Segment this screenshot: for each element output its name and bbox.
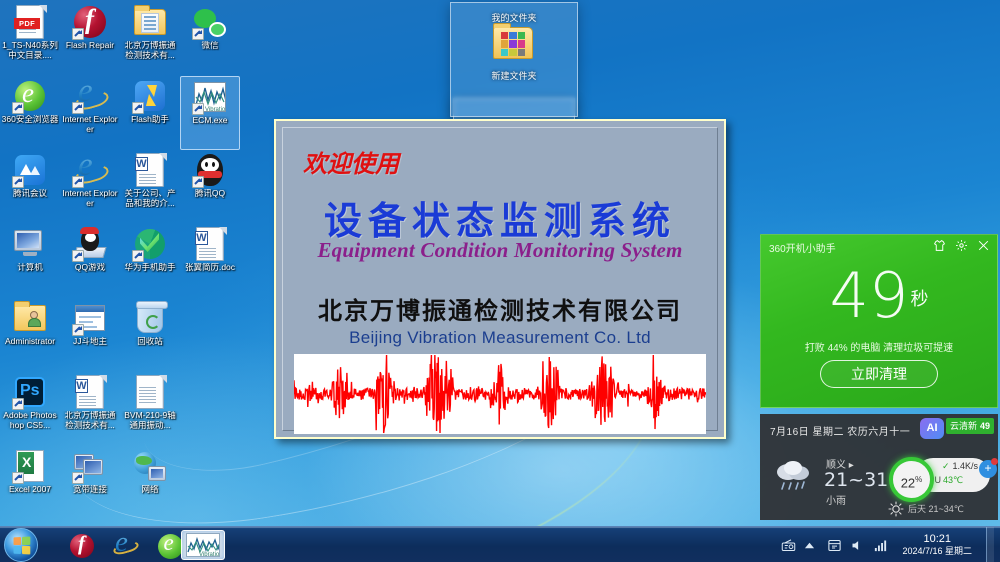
shortcut-arrow-icon (12, 102, 24, 114)
taskbar-internet-explorer[interactable]: e (106, 530, 146, 560)
desktop-icon-label: 北京万博振通检测技术有... (61, 411, 119, 430)
desktop-icon-label: 回收站 (121, 337, 179, 347)
desktop-icon-flash助手[interactable]: Flash助手 (120, 76, 180, 150)
ie-icon (73, 79, 107, 113)
shortcut-arrow-icon (72, 102, 84, 114)
desktop-icon-empty-slot (180, 372, 240, 446)
desktop-icon-label: 张翼简历.doc (181, 263, 239, 273)
memory-usage-value: 22 (901, 475, 915, 490)
svg-text:Vibration: Vibration (199, 552, 220, 557)
weather-condition: 小雨 (826, 492, 846, 507)
windows-logo-icon (14, 537, 31, 555)
desktop-icon-腾讯qq[interactable]: 腾讯QQ (180, 150, 240, 224)
desktop-icon-administrator[interactable]: Administrator (0, 298, 60, 372)
jj-icon (73, 301, 107, 335)
doc-icon (133, 375, 167, 409)
vibration-waveform (294, 354, 706, 434)
clean-now-button[interactable]: 立即清理 (820, 360, 938, 388)
memory-usage-unit: % (915, 475, 922, 484)
browser360-icon (13, 79, 47, 113)
taskbar-ecm[interactable]: Vibration (181, 530, 225, 560)
ai-button[interactable]: AI (920, 418, 944, 439)
volume-icon[interactable] (850, 538, 865, 553)
desktop-icon-关于公司-产品和我的介-[interactable]: W关于公司、产品和我的介... (120, 150, 180, 224)
desktop-icon-label: QQ游戏 (61, 263, 119, 273)
background-window-title: 我的文件夹 (451, 11, 577, 24)
shortcut-arrow-icon (72, 324, 84, 336)
ecm-icon: Vibration (193, 80, 227, 114)
desktop-icon-label: Excel 2007 (1, 485, 59, 495)
sun-icon (888, 501, 904, 517)
vibration-waveform-panel (294, 354, 706, 434)
desktop-icon-回收站[interactable]: 回收站 (120, 298, 180, 372)
shortcut-arrow-icon (192, 103, 204, 115)
folder-icon (133, 5, 167, 39)
show-desktop-button[interactable] (986, 527, 994, 562)
network-speed-value: 1.4K/s (953, 461, 979, 471)
background-window-my-folder[interactable]: 我的文件夹 新建文件夹 (450, 2, 578, 117)
huawei-icon (133, 227, 167, 261)
desktop-icon-label: 1_TS-N40系列中文目录.... (1, 41, 59, 60)
widget-360-subtitle: 打败 44% 的电脑 清理垃圾可提速 (761, 339, 997, 354)
desktop-icon-腾讯会议[interactable]: 腾讯会议 (0, 150, 60, 224)
desktop-icon-label: 宽带连接 (61, 485, 119, 495)
desktop-icon-label: Internet Explorer (61, 189, 119, 208)
welcome-text: 欢迎使用 (303, 144, 399, 179)
clock-date: 2024/7/16 星期二 (902, 545, 972, 557)
shortcut-arrow-icon (192, 176, 204, 188)
splash-title-english: Equipment Condition Monitoring System (283, 238, 717, 263)
network-icon (133, 449, 167, 483)
computer-icon (13, 227, 47, 261)
desktop-icon-网络[interactable]: 网络 (120, 446, 180, 520)
desktop-icon-label: Internet Explorer (61, 115, 119, 134)
flashhelp-icon (133, 79, 167, 113)
desktop-icon-宽带连接[interactable]: 宽带连接 (60, 446, 120, 520)
system-tray[interactable]: 10:21 2024/7/16 星期二 (781, 527, 1000, 562)
weather-future-forecast: 后天 21~34℃ (908, 502, 964, 515)
check-icon: ✓ (942, 461, 950, 471)
folder-item-label: 新建文件夹 (451, 69, 577, 82)
desktop-icon-北京万博振通检测技术有-[interactable]: 北京万博振通检测技术有... (120, 2, 180, 76)
svg-text:Vibration: Vibration (205, 107, 226, 112)
desktop-icon-label: JJ斗地主 (61, 337, 119, 347)
desktop-icon-计算机[interactable]: 计算机 (0, 224, 60, 298)
action-center-icon[interactable] (827, 538, 842, 553)
wechat-icon (193, 5, 227, 39)
shortcut-arrow-icon (12, 176, 24, 188)
weather-date: 7月16日 星期二 农历六月十一 (770, 423, 910, 438)
weather-temp-range: 21~31 (824, 469, 888, 491)
desktop-icon-label: 华为手机助手 (121, 263, 179, 273)
taskbar[interactable]: f e e Vibration (0, 526, 1000, 562)
desktop-icon-label: 腾讯QQ (181, 189, 239, 199)
excel-icon (13, 449, 47, 483)
cpu-temp-value: 43℃ (943, 475, 963, 485)
widget-360-boot-assistant[interactable]: 360开机小助手 49秒 打败 44% 的电脑 清理垃圾可提速 立即清理 (760, 234, 998, 408)
desktop-icon-jj斗地主[interactable]: JJ斗地主 (60, 298, 120, 372)
desktop-icon-label: BVM-210-9轴通用振动... (121, 411, 179, 430)
widget-360-value: 49 (830, 259, 909, 332)
taskbar-flash[interactable]: f (62, 530, 102, 560)
desktop-icon-adobe-photoshop-cs5-[interactable]: Adobe Photoshop CS5... (0, 372, 60, 446)
qq-icon (193, 153, 227, 187)
memory-usage-ring[interactable]: 22% (889, 457, 934, 502)
desktop-icon-excel-2007[interactable]: Excel 2007 (0, 446, 60, 520)
desktop-icon-label: 360安全浏览器 (1, 115, 59, 125)
clock-time: 10:21 (902, 533, 972, 545)
shortcut-arrow-icon (72, 176, 84, 188)
desktop-icon-empty-slot (180, 446, 240, 520)
show-hidden-icons-icon[interactable] (804, 538, 819, 553)
desktop-icon-label: 网络 (121, 485, 179, 495)
desktop-icon-label: 计算机 (1, 263, 59, 273)
desktop[interactable]: PDF1_TS-N40系列中文目录....Flash Repair北京万博振通检… (0, 0, 1000, 562)
radio-icon[interactable] (781, 538, 796, 553)
desktop-icon-label: 微信 (181, 41, 239, 51)
taskbar-clock[interactable]: 10:21 2024/7/16 星期二 (896, 533, 976, 557)
folder-icon[interactable] (483, 27, 543, 59)
shortcut-arrow-icon (72, 28, 84, 40)
ecm-splash-window[interactable]: 欢迎使用 设备状态监测系统 Equipment Condition Monito… (274, 119, 726, 439)
tencent-meeting-icon (13, 153, 47, 187)
shortcut-arrow-icon (72, 250, 84, 262)
desktop-icon-internet-explorer[interactable]: Internet Explorer (60, 76, 120, 150)
close-icon[interactable] (977, 239, 990, 256)
desktop-icon-grid: PDF1_TS-N40系列中文目录....Flash Repair北京万博振通检… (0, 2, 240, 520)
desktop-icon-label: 关于公司、产品和我的介... (121, 189, 179, 208)
shortcut-arrow-icon (12, 398, 24, 410)
desktop-icon-1-ts-n40系列中文目录-[interactable]: PDF1_TS-N40系列中文目录.... (0, 2, 60, 76)
desktop-icon-label: 腾讯会议 (1, 189, 59, 199)
network-speed: ✓1.4K/s (942, 461, 978, 472)
qqgame-icon (73, 227, 107, 261)
air-quality-label: 云清新 (950, 421, 977, 431)
shortcut-arrow-icon (132, 102, 144, 114)
desktop-icon-label: Adobe Photoshop CS5... (1, 411, 59, 430)
desktop-icon-label: Flash助手 (121, 115, 179, 125)
desktop-icon-北京万博振通检测技术有-[interactable]: W北京万博振通检测技术有... (60, 372, 120, 446)
network-signal-icon[interactable] (873, 538, 888, 553)
gear-icon[interactable] (955, 239, 968, 256)
widget-360-value-row: 49秒 (761, 261, 997, 335)
desktop-icon-label: Administrator (1, 337, 59, 347)
ps-icon (13, 375, 47, 409)
pdf-icon: PDF (13, 5, 47, 39)
desktop-icon-empty-slot (180, 298, 240, 372)
desktop-icon-bvm-210-9轴通用振动-[interactable]: BVM-210-9轴通用振动... (120, 372, 180, 446)
add-button[interactable]: + (979, 460, 997, 478)
word-icon: W (133, 153, 167, 187)
shirt-icon[interactable] (933, 239, 946, 256)
word-icon: W (73, 375, 107, 409)
desktop-icon-label: 北京万博振通检测技术有... (121, 41, 179, 60)
word-icon: W (193, 227, 227, 261)
widget-weather-system[interactable]: 7月16日 星期二 农历六月十一 AI 云清新49 顺义 ▸ 21~31 小雨 … (760, 414, 998, 520)
splash-inner-frame: 欢迎使用 设备状态监测系统 Equipment Condition Monito… (282, 127, 718, 431)
shortcut-arrow-icon (72, 472, 84, 484)
desktop-icon-qq游戏[interactable]: QQ游戏 (60, 224, 120, 298)
company-name-english: Beijing Vibration Measurement Co. Ltd (283, 328, 717, 348)
desktop-icon-ecm-exe[interactable]: VibrationECM.exe (180, 76, 240, 150)
shortcut-arrow-icon (192, 28, 204, 40)
widget-360-unit: 秒 (910, 289, 928, 310)
rain-cloud-icon (772, 458, 818, 492)
desktop-icon-张翼简历-doc[interactable]: W张翼简历.doc (180, 224, 240, 298)
ie-icon (73, 153, 107, 187)
shortcut-arrow-icon (132, 250, 144, 262)
desktop-icon-华为手机助手[interactable]: 华为手机助手 (120, 224, 180, 298)
widget-360-actions (933, 239, 990, 256)
recycle-icon (133, 301, 167, 335)
air-quality-value: 49 (980, 421, 990, 431)
air-quality-badge: 云清新49 (946, 418, 994, 434)
desktop-icon-internet-explorer[interactable]: Internet Explorer (60, 150, 120, 224)
widget-360-title: 360开机小助手 (769, 240, 836, 255)
splash-title-chinese: 设备状态监测系统 (283, 190, 717, 245)
broadband-icon (73, 449, 107, 483)
adminfolder-icon (13, 301, 47, 335)
desktop-icon-flash-repair[interactable]: Flash Repair (60, 2, 120, 76)
desktop-icon-label: Flash Repair (61, 41, 119, 51)
windows-start-button[interactable] (4, 528, 38, 562)
desktop-icon-微信[interactable]: 微信 (180, 2, 240, 76)
shortcut-arrow-icon (12, 472, 24, 484)
desktop-icon-360安全浏览器[interactable]: 360安全浏览器 (0, 76, 60, 150)
flash-icon (73, 5, 107, 39)
company-name-chinese: 北京万博振通检测技术有限公司 (283, 291, 717, 326)
